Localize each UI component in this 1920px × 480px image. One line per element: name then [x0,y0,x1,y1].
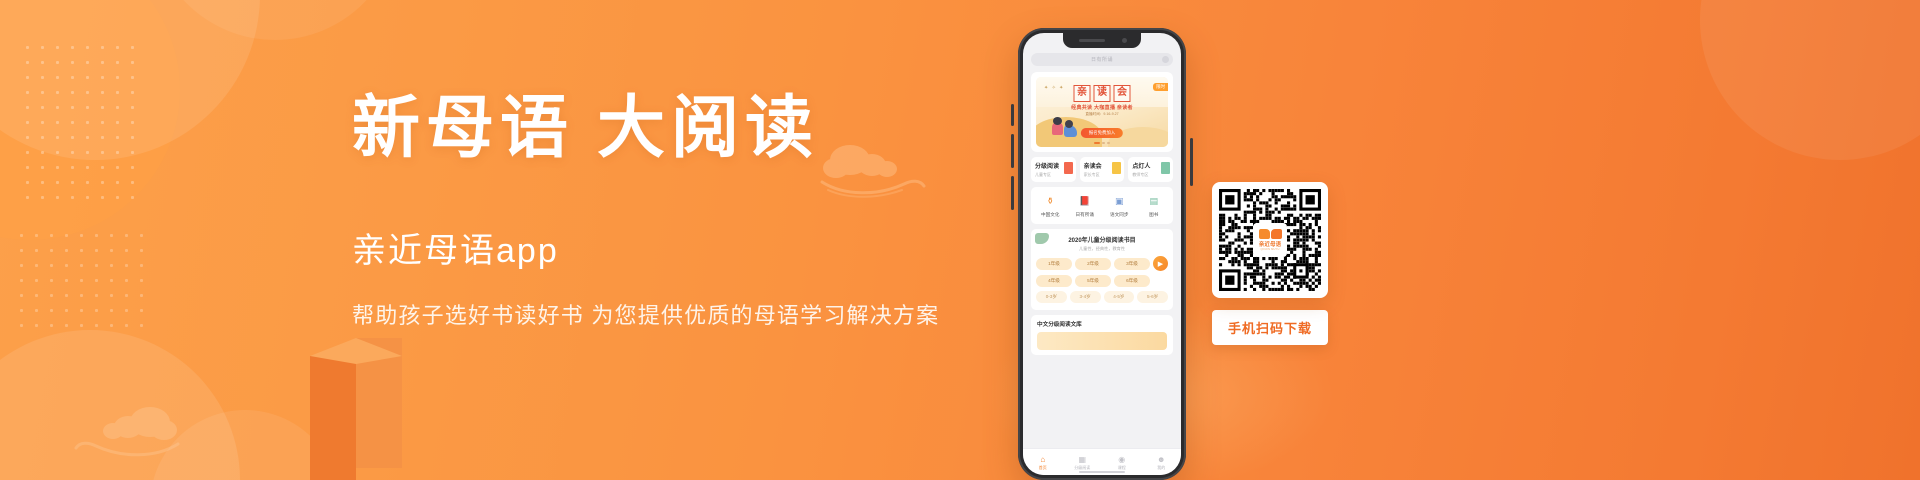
quick-entry[interactable]: ⚱ 中国文化 [1033,193,1068,218]
decor-dot-grid [20,40,140,200]
decor-blob-bottom-left-2 [150,410,340,480]
phone-mockup: 日有所诵 ✦ ✧ ✦ 限时 亲 读 会 [1018,28,1186,480]
decor-blob-top-right [1700,0,1920,160]
carousel-dots[interactable] [1094,142,1110,144]
grade-row-2: 4年级 5年级 6年级 [1036,275,1168,287]
book-icon: 📕 [1077,193,1093,209]
quick-entry[interactable]: 📕 日有所诵 [1068,193,1103,218]
library-icon: ▤ [1146,193,1162,209]
decor-blob-left [0,0,180,240]
phone-volume-up [1011,134,1014,168]
search-placeholder: 日有所诵 [1091,56,1113,63]
hero-cta-button[interactable]: 报名免费加入 [1081,128,1123,138]
decor-blob-top-left [0,0,260,160]
grade-chip[interactable]: 1年级 [1036,258,1072,270]
download-button[interactable]: 手机扫码下载 [1212,310,1328,345]
tagline: 帮助孩子选好书读好书 为您提供优质的母语学习解决方案 [352,298,1052,330]
hero-date: 直播时间：9.16-9.27 [1085,112,1118,117]
entry-card[interactable]: 亲读会 家长专区 [1080,157,1125,182]
grade-chip[interactable]: 3年级 [1114,258,1150,270]
search-input[interactable]: 日有所诵 [1031,53,1173,66]
tab-courses[interactable]: ◉ 课程 [1102,455,1142,471]
brand-logo: 亲近母语 QINJIN MUYU [1253,223,1287,257]
search-icon[interactable] [1162,56,1169,63]
tab-label: 首页 [1023,465,1063,471]
phone-volume-down [1011,176,1014,210]
age-chip[interactable]: 3-4岁 [1070,291,1101,303]
hero-title-char: 会 [1114,85,1131,102]
logo-name-cn: 亲近母语 [1259,240,1281,248]
grade-chip[interactable]: 4年级 [1036,275,1072,287]
book-icon [1112,162,1121,174]
square-icon: ▣ [1111,193,1127,209]
tab-graded-reading[interactable]: ▦ 分级阅读 [1063,455,1103,471]
quick-entry-row: ⚱ 中国文化 📕 日有所诵 ▣ 语文同步 ▤ 图书 [1031,187,1173,224]
decor-blob-bottom-left [0,330,240,480]
tab-home[interactable]: ⌂ 首页 [1023,455,1063,471]
hero-banner[interactable]: ✦ ✧ ✦ 限时 亲 读 会 经典共读 大咖直播 亲读者 直播时间：9.16-9… [1036,77,1168,147]
tab-profile[interactable]: ☻ 我的 [1142,455,1182,471]
decor-dot-grid-2 [14,228,149,328]
entry-card[interactable]: 分级阅读 儿童专区 [1031,157,1076,182]
triple-entry-row: 分级阅读 儿童专区 亲读会 家长专区 点灯人 教师专区 [1031,157,1173,182]
age-chip[interactable]: 5-6岁 [1137,291,1168,303]
book-icon [1161,162,1170,174]
hero-banner-card[interactable]: ✦ ✧ ✦ 限时 亲 读 会 经典共读 大咖直播 亲读者 直播时间：9.16-9… [1031,72,1173,152]
hero-title-char: 亲 [1074,85,1091,102]
hero-title: 亲 读 会 [1074,85,1131,102]
play-icon[interactable]: ▶ [1153,256,1168,271]
quick-entry-label: 图书 [1137,212,1172,218]
home-icon: ⌂ [1023,455,1063,464]
quick-entry-label: 语文同步 [1102,212,1137,218]
decor-blob-top-left-2 [150,0,400,40]
quick-entry-label: 中国文化 [1033,212,1068,218]
bird-icon: ✦ ✧ ✦ [1044,85,1064,91]
library-title: 中文分级阅读文库 [1037,320,1167,328]
grade-chip[interactable]: 5年级 [1075,275,1111,287]
library-section[interactable]: 中文分级阅读文库 [1031,315,1173,355]
decor-cube [310,338,400,480]
book-logo-icon [1259,229,1282,239]
vase-icon: ⚱ [1042,193,1058,209]
library-strip [1037,332,1167,350]
grade-chip[interactable]: 6年级 [1114,275,1150,287]
qr-block: 亲近母语 QINJIN MUYU 手机扫码下载 [1212,182,1328,345]
banner-copy: 新母语 大阅读 亲近母语app 帮助孩子选好书读好书 为您提供优质的母语学习解决… [352,92,1052,330]
book-icon [1064,162,1073,174]
booklist-title: 2020年儿童分级阅读书目 [1036,235,1168,244]
promo-banner: 新母语 大阅读 亲近母语app 帮助孩子选好书读好书 为您提供优质的母语学习解决… [0,0,1920,480]
tab-label: 我的 [1142,465,1182,471]
phone-screen: 日有所诵 ✦ ✧ ✦ 限时 亲 读 会 [1023,33,1181,475]
age-chip[interactable]: 4-5岁 [1104,291,1135,303]
cloud-icon-secondary [60,400,180,464]
page-title: 新母语 大阅读 [352,92,1052,165]
app-name: 亲近母语app [352,223,1052,272]
grid-icon: ▦ [1063,455,1103,464]
user-icon: ☻ [1142,455,1182,464]
quick-entry[interactable]: ▤ 图书 [1137,193,1172,218]
age-chip[interactable]: 0-3岁 [1036,291,1067,303]
hero-subtitle: 经典共读 大咖直播 亲读者 [1071,104,1133,111]
quick-entry[interactable]: ▣ 语文同步 [1102,193,1137,218]
booklist-subtitle: 儿童性，经典性，教育性 [1036,246,1168,252]
home-indicator [1079,471,1125,473]
phone-power-button [1190,138,1193,186]
entry-card[interactable]: 点灯人 教师专区 [1128,157,1173,182]
phone-notch [1063,33,1141,48]
phone-mute-switch [1011,104,1014,126]
quick-entry-label: 日有所诵 [1068,212,1103,218]
hero-title-char: 读 [1094,85,1111,102]
grade-row-1: 1年级 2年级 3年级 ▶ [1036,256,1168,271]
logo-name-en: QINJIN MUYU [1260,248,1279,251]
grade-chip[interactable]: 2年级 [1075,258,1111,270]
hero-badge: 限时 [1153,83,1168,91]
play-circle-icon: ◉ [1102,455,1142,464]
grade-row-3: 0-3岁 3-4岁 4-5岁 5-6岁 [1036,291,1168,303]
booklist-card[interactable]: 2020年儿童分级阅读书目 儿童性，经典性，教育性 1年级 2年级 3年级 ▶ … [1031,229,1173,310]
qr-code[interactable]: 亲近母语 QINJIN MUYU [1212,182,1328,298]
